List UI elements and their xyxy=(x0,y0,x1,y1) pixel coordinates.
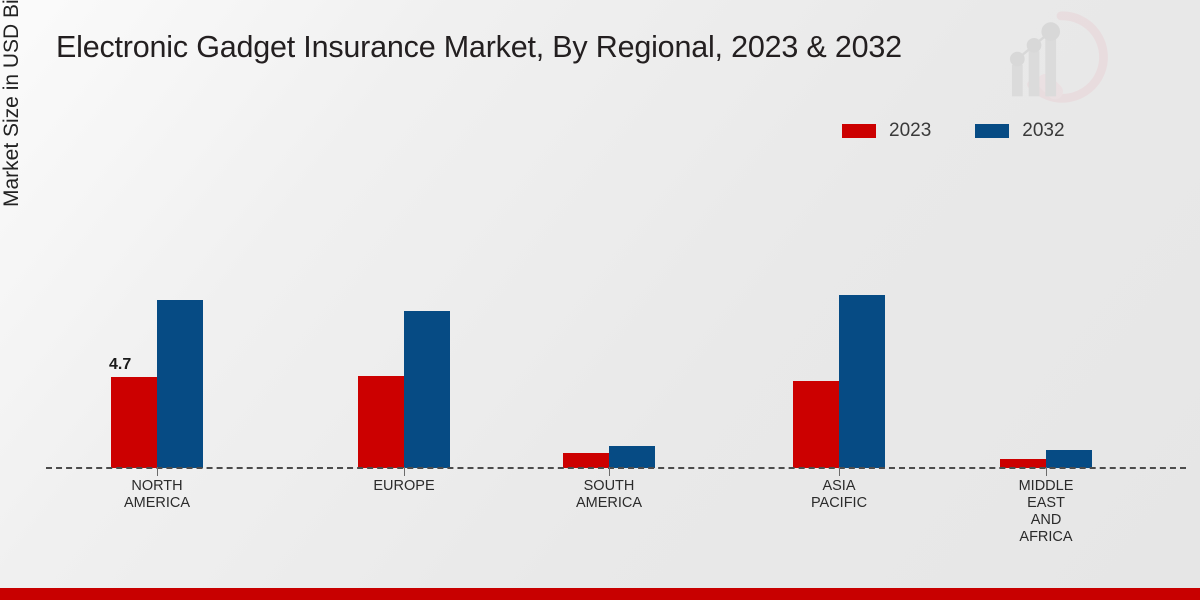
watermark-logo xyxy=(1004,8,1122,116)
bar-group xyxy=(792,160,886,468)
bar-pair xyxy=(357,160,451,468)
x-axis-baseline xyxy=(46,467,1186,469)
bar-2032-asia-pacific[interactable] xyxy=(839,295,885,468)
legend-item-2032[interactable]: 2032 xyxy=(975,120,1064,142)
x-axis-label-line: AMERICA xyxy=(82,495,232,512)
bar-2023-europe[interactable] xyxy=(358,376,404,468)
x-axis-label-line: SOUTH xyxy=(534,478,684,495)
x-axis-label-line: NORTH xyxy=(82,478,232,495)
x-axis-label-line: EAST xyxy=(971,495,1121,512)
x-axis-label-line: AMERICA xyxy=(534,495,684,512)
x-axis-label-line: AND xyxy=(971,512,1121,529)
bar-value-label: 4.7 xyxy=(109,356,131,374)
chart-title: Electronic Gadget Insurance Market, By R… xyxy=(56,30,902,65)
bar-2023-south-america[interactable] xyxy=(563,453,609,468)
x-axis-label-south-america: SOUTHAMERICA xyxy=(534,478,684,512)
bar-pair xyxy=(999,160,1093,468)
bar-2032-south-america[interactable] xyxy=(609,446,655,468)
x-axis-label-asia-pacific: ASIAPACIFIC xyxy=(764,478,914,512)
chart-legend: 2023 2032 xyxy=(842,120,1065,142)
bar-pair xyxy=(562,160,656,468)
x-axis-label-europe: EUROPE xyxy=(329,478,479,495)
legend-swatch-2032 xyxy=(975,124,1009,138)
x-axis-tick xyxy=(839,467,840,476)
x-axis-label-line: EUROPE xyxy=(329,478,479,495)
x-axis-label-line: ASIA xyxy=(764,478,914,495)
x-axis-label-middle-east-and-africa: MIDDLEEASTANDAFRICA xyxy=(971,478,1121,546)
plot-area: 4.7 xyxy=(46,160,1186,468)
x-axis-label-north-america: NORTHAMERICA xyxy=(82,478,232,512)
footer-accent-bar xyxy=(0,588,1200,600)
bar-group: 4.7 xyxy=(110,160,204,468)
bar-2032-north-america[interactable] xyxy=(157,300,203,468)
bar-pair xyxy=(792,160,886,468)
x-axis-tick xyxy=(609,467,610,476)
legend-label-2032: 2032 xyxy=(1022,120,1064,142)
legend-swatch-2023 xyxy=(842,124,876,138)
bar-2032-middle-east-and-africa[interactable] xyxy=(1046,450,1092,468)
bar-2023-north-america[interactable]: 4.7 xyxy=(111,377,157,468)
bar-group xyxy=(357,160,451,468)
x-axis-tick xyxy=(404,467,405,476)
legend-label-2023: 2023 xyxy=(889,120,931,142)
bar-group xyxy=(999,160,1093,468)
x-axis-label-line: MIDDLE xyxy=(971,478,1121,495)
x-axis-tick xyxy=(1046,467,1047,476)
bar-pair: 4.7 xyxy=(110,160,204,468)
x-axis-label-line: PACIFIC xyxy=(764,495,914,512)
bar-2032-europe[interactable] xyxy=(404,311,450,468)
x-axis-tick xyxy=(157,467,158,476)
bar-group xyxy=(562,160,656,468)
x-axis-label-line: AFRICA xyxy=(971,529,1121,546)
bar-2023-asia-pacific[interactable] xyxy=(793,381,839,468)
legend-item-2023[interactable]: 2023 xyxy=(842,120,931,142)
y-axis-title: Market Size in USD Billion xyxy=(0,0,24,207)
